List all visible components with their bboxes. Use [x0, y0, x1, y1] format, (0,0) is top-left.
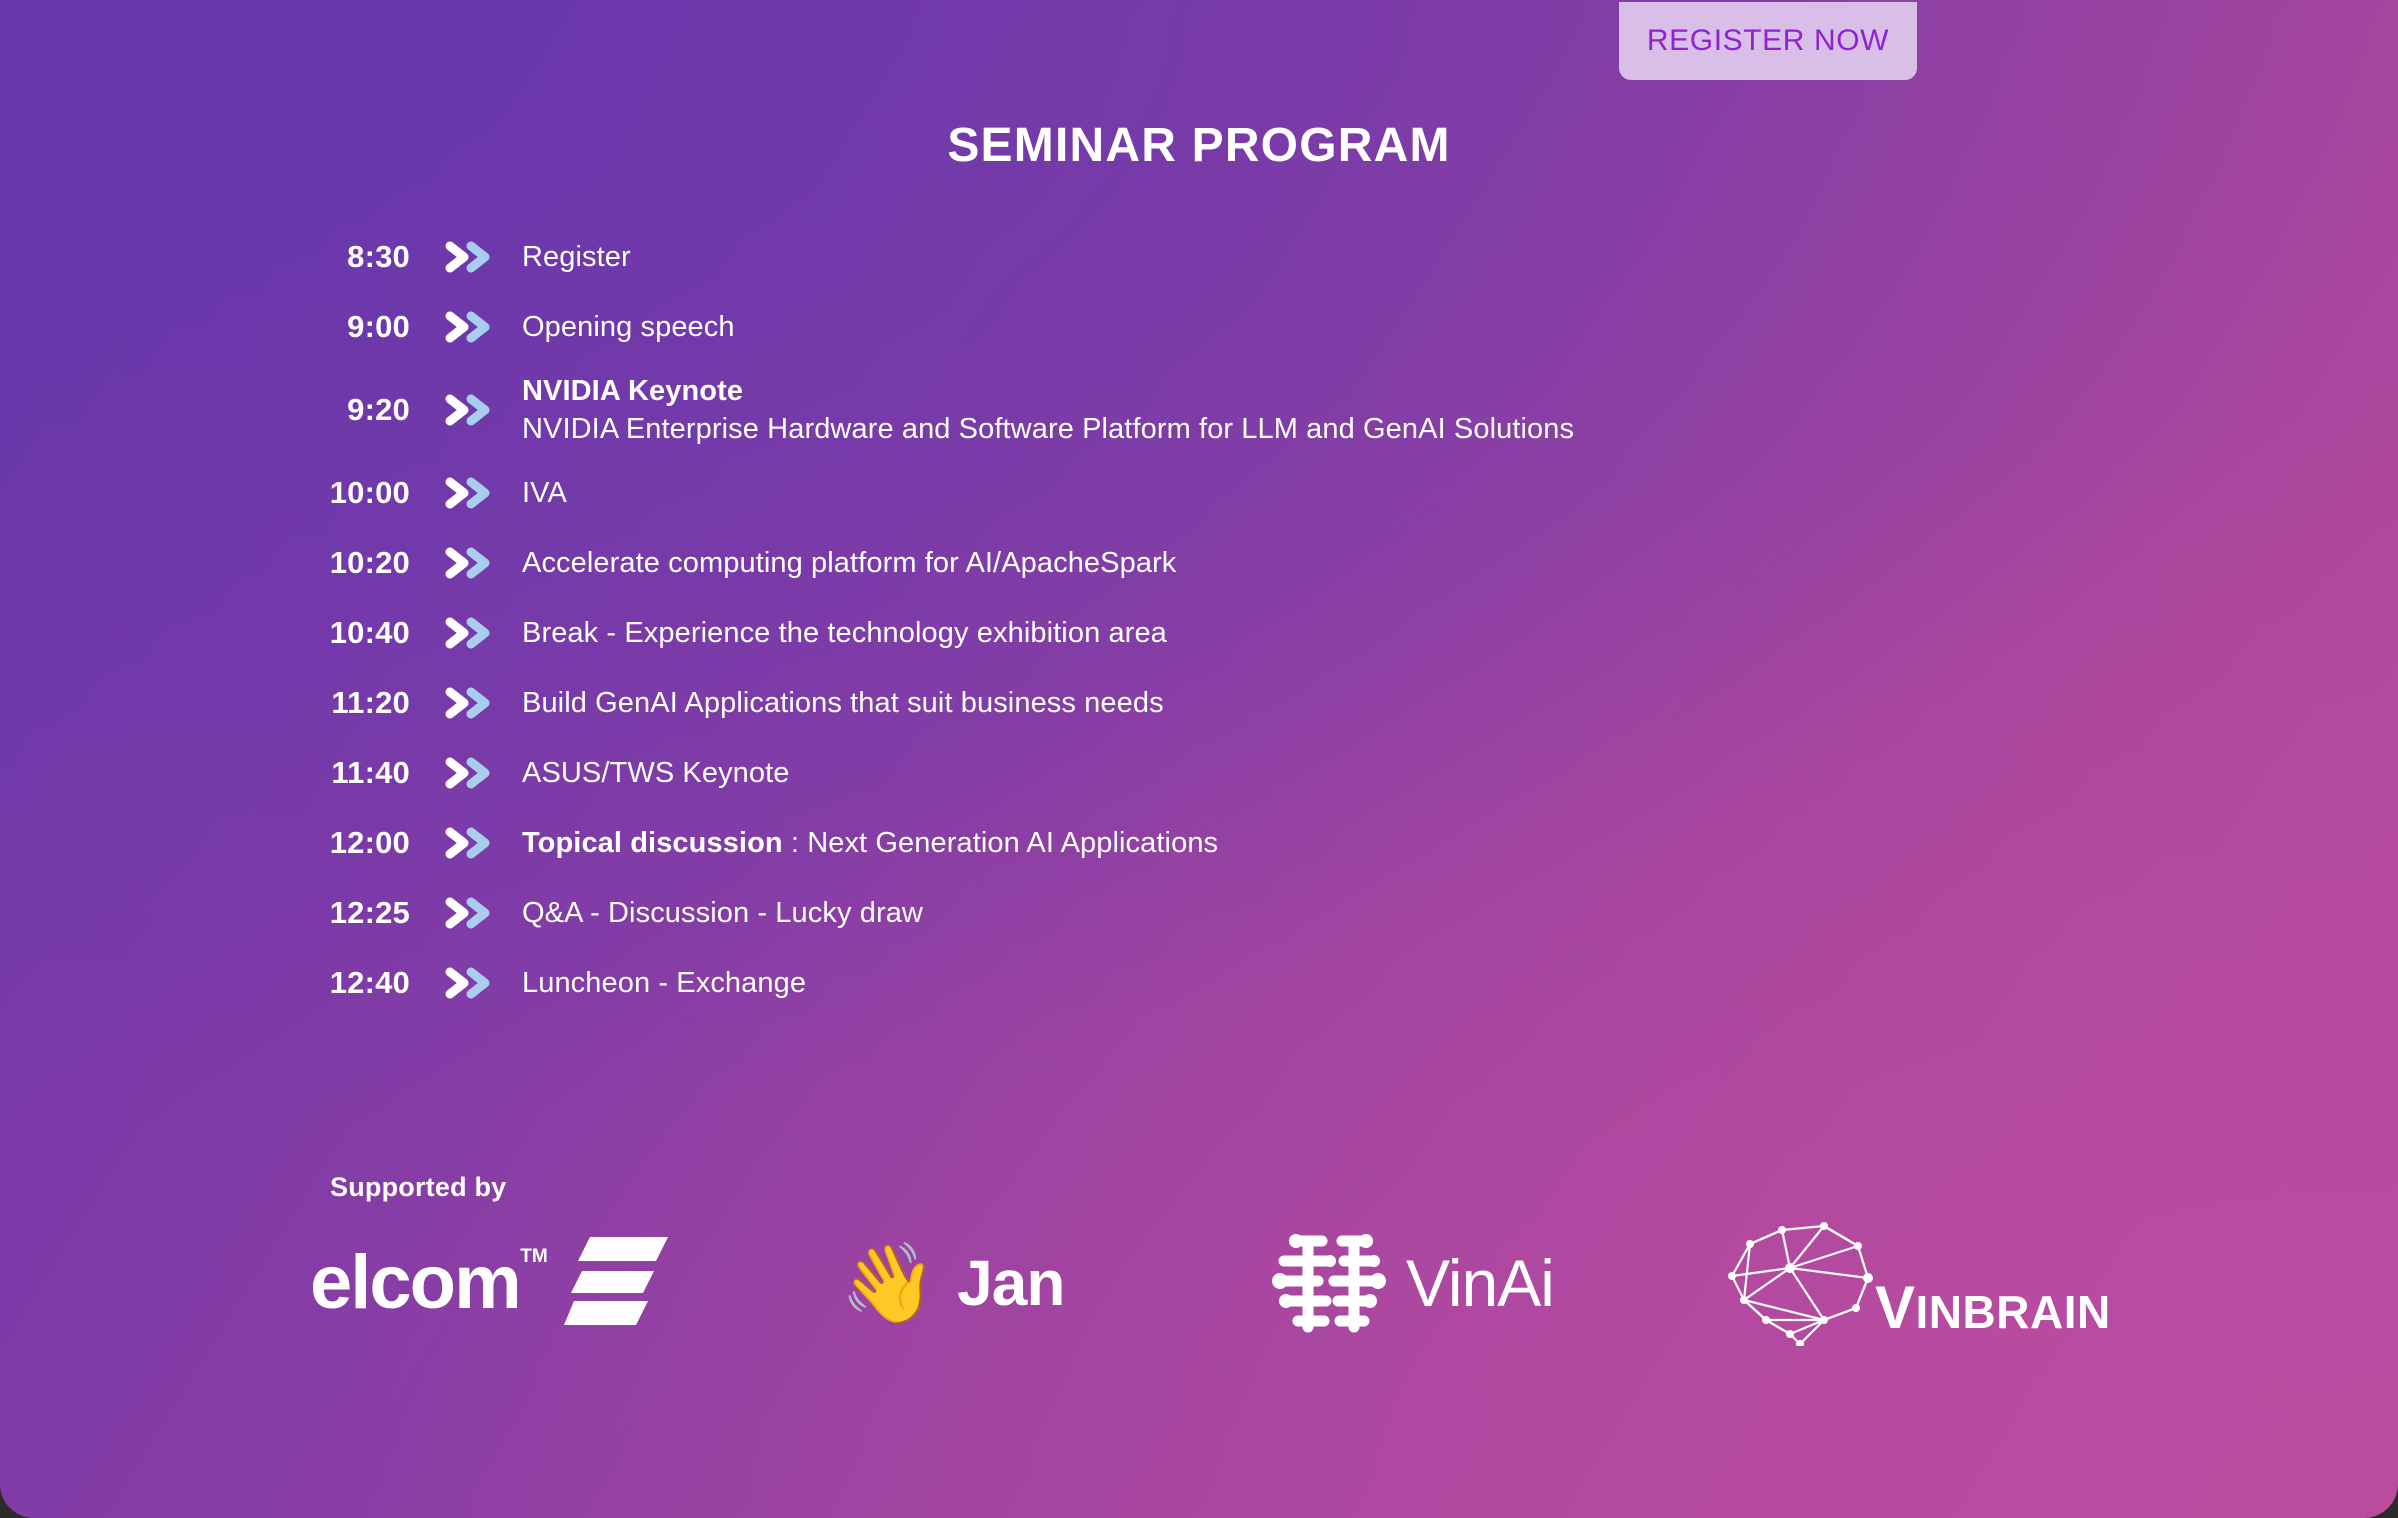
schedule-row: 12:25 Q&A - Discussion - Lucky draw [250, 878, 2150, 948]
waving-hand-icon: 👋 [840, 1244, 937, 1322]
vinbrain-rest: INBRAIN [1916, 1286, 2111, 1338]
double-chevron-right-icon [410, 239, 512, 275]
double-chevron-right-icon [410, 895, 512, 931]
schedule-row: 11:40 ASUS/TWS Keynote [250, 738, 2150, 808]
schedule-time: 12:25 [250, 895, 410, 931]
schedule-description-rest: : Next Generation AI Applications [783, 827, 1218, 859]
schedule-description: Luncheon - Exchange [512, 964, 806, 1002]
schedule-row: 12:40 Luncheon - Exchange [250, 948, 2150, 1018]
schedule-description: Build GenAI Applications that suit busin… [512, 684, 1164, 722]
sponsor-logo-vinai: VinAi [1270, 1218, 1554, 1348]
schedule-description: IVA [512, 474, 567, 512]
elcom-e-mark-icon [564, 1235, 668, 1332]
schedule-row: 10:20 Accelerate computing platform for … [250, 528, 2150, 598]
vinai-wordmark: VinAi [1406, 1245, 1554, 1321]
schedule-row: 11:20 Build GenAI Applications that suit… [250, 668, 2150, 738]
schedule-row: 8:30 Register [250, 222, 2150, 292]
schedule-description: Break - Experience the technology exhibi… [512, 614, 1167, 652]
schedule-row: 12:00 Topical discussion : Next Generati… [250, 808, 2150, 878]
schedule-description: Register [512, 238, 631, 276]
schedule-time: 10:40 [250, 615, 410, 651]
jan-wordmark: Jan [957, 1246, 1064, 1320]
page-title: SEMINAR PROGRAM [0, 118, 2398, 173]
elcom-wordmark: elcomTM [310, 1245, 520, 1321]
schedule-description: NVIDIA Keynote NVIDIA Enterprise Hardwar… [512, 372, 1574, 449]
schedule-row: 9:20 NVIDIA Keynote NVIDIA Enterprise Ha… [250, 362, 2150, 458]
brain-network-icon [1720, 1216, 1895, 1351]
double-chevron-right-icon [410, 685, 512, 721]
schedule-time: 9:00 [250, 309, 410, 345]
double-chevron-right-icon [410, 965, 512, 1001]
register-now-button[interactable]: REGISTER NOW [1619, 2, 1917, 80]
double-chevron-right-icon [410, 615, 512, 651]
double-chevron-right-icon [410, 825, 512, 861]
vinbrain-wordmark: VINBRAIN [1875, 1273, 2111, 1342]
schedule-time: 12:40 [250, 965, 410, 1001]
schedule-time: 10:20 [250, 545, 410, 581]
double-chevron-right-icon [410, 755, 512, 791]
schedule-description-label: Topical discussion [522, 827, 783, 859]
schedule-description-title: NVIDIA Keynote [522, 372, 1574, 410]
double-chevron-right-icon [410, 475, 512, 511]
vinai-circuit-mark-icon [1270, 1227, 1388, 1340]
supported-by-label: Supported by [330, 1172, 506, 1203]
schedule-list: 8:30 Register 9:00 Opening speech 9:20 [250, 222, 2150, 1018]
double-chevron-right-icon [410, 545, 512, 581]
trademark-icon: TM [520, 1247, 547, 1266]
vinbrain-initial: V [1875, 1274, 1916, 1341]
schedule-time: 12:00 [250, 825, 410, 861]
schedule-description: Q&A - Discussion - Lucky draw [512, 894, 923, 932]
sponsor-logo-elcom: elcomTM [310, 1218, 668, 1348]
elcom-text: elcom [310, 1240, 520, 1325]
sponsor-logos: elcomTM 👋 Jan [310, 1218, 2160, 1348]
schedule-description: Opening speech [512, 308, 735, 346]
double-chevron-right-icon [410, 309, 512, 345]
sponsor-logo-vinbrain: VINBRAIN [1720, 1218, 2111, 1348]
schedule-description: ASUS/TWS Keynote [512, 754, 790, 792]
schedule-time: 9:20 [250, 392, 410, 428]
schedule-row: 9:00 Opening speech [250, 292, 2150, 362]
schedule-description: Accelerate computing platform for AI/Apa… [512, 544, 1176, 582]
schedule-time: 11:20 [250, 685, 410, 721]
double-chevron-right-icon [410, 392, 512, 428]
schedule-description: Topical discussion : Next Generation AI … [512, 824, 1218, 862]
schedule-description-subtitle: NVIDIA Enterprise Hardware and Software … [522, 410, 1574, 448]
schedule-time: 10:00 [250, 475, 410, 511]
sponsor-logo-jan: 👋 Jan [840, 1218, 1064, 1348]
schedule-row: 10:40 Break - Experience the technology … [250, 598, 2150, 668]
schedule-row: 10:00 IVA [250, 458, 2150, 528]
seminar-program-slide: REGISTER NOW SEMINAR PROGRAM 8:30 Regist… [0, 0, 2398, 1518]
schedule-time: 8:30 [250, 239, 410, 275]
schedule-time: 11:40 [250, 755, 410, 791]
